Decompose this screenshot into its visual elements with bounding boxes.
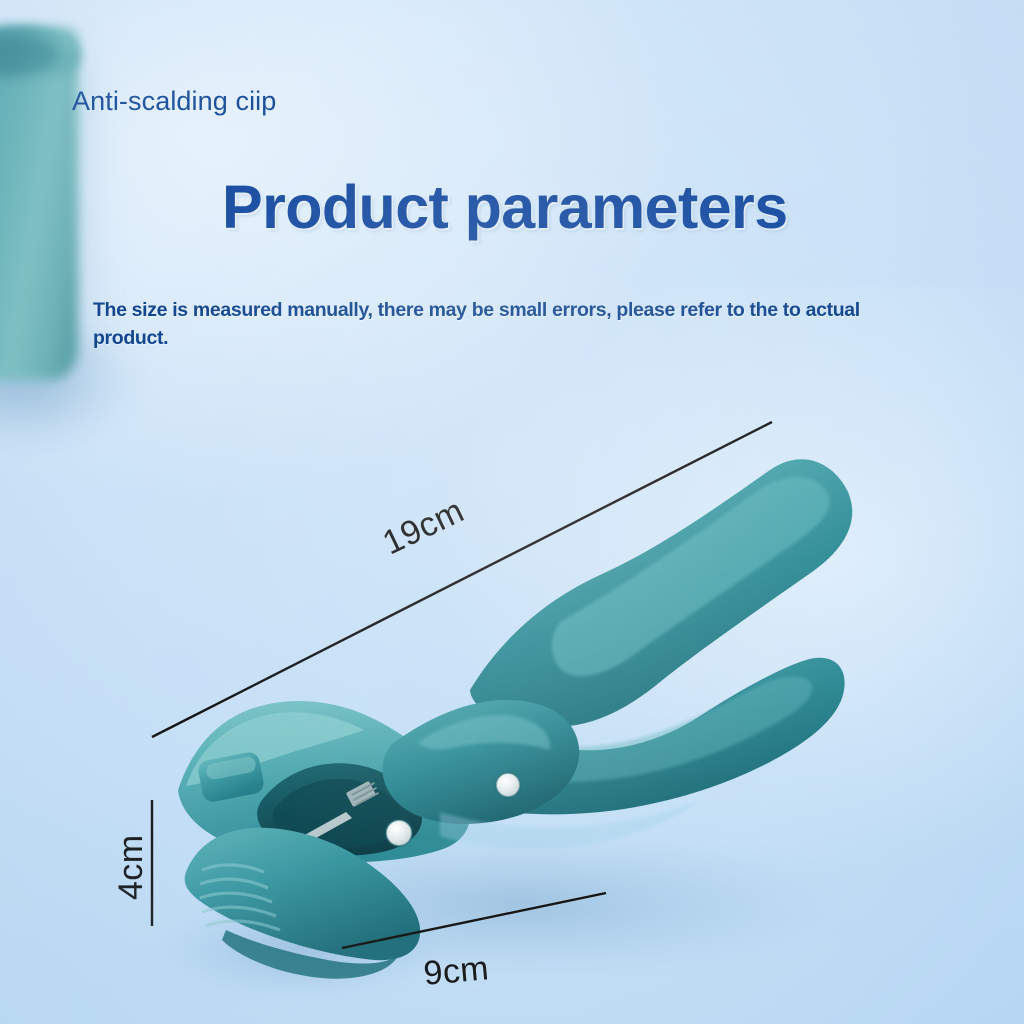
jaw-metal-pin	[292, 812, 352, 848]
rivet-rear-ring	[496, 773, 520, 797]
rivet-front-ring	[386, 820, 412, 846]
measure-label-9cm: 9cm	[422, 949, 491, 994]
upper-handle-highlight	[552, 477, 830, 676]
product-underglow	[440, 800, 700, 849]
thumb-button	[197, 750, 266, 803]
grip-ridges	[200, 865, 280, 930]
vignette-overlay	[0, 0, 1024, 1024]
thumb-button-highlight	[205, 755, 257, 780]
rivet-rear	[496, 773, 520, 797]
clip-center-highlight	[418, 715, 550, 750]
measure-line-9cm	[342, 893, 606, 948]
product-contact-shadow-front	[150, 898, 450, 1002]
product-image	[0, 0, 1024, 1024]
product-contact-shadow	[190, 827, 850, 983]
background-shadow-bottom	[82, 717, 963, 1024]
ridged-grip-pad	[185, 828, 421, 960]
grip-pad-lip	[222, 930, 400, 979]
clip-center-body	[382, 700, 579, 824]
jaw-pin-head	[289, 840, 299, 850]
gripping-jaw-head	[178, 701, 470, 862]
product-parameters-infographic: 19cm 4cm 9cm Anti-scalding ciip Product …	[0, 0, 1024, 1024]
page-title: Product parameters	[222, 172, 788, 242]
measure-line-19cm	[152, 422, 772, 737]
measurement-overlay	[0, 0, 1024, 1024]
background-highlight-right	[430, 287, 1024, 881]
jaw-cavity	[257, 763, 422, 855]
lower-handle-sheen	[461, 677, 812, 783]
upper-handle	[470, 459, 852, 726]
measure-label-19cm: 19cm	[377, 492, 470, 564]
disclaimer-text: The size is measured manually, there may…	[93, 297, 938, 352]
jaw-cavity-inner-shadow	[272, 779, 403, 847]
product-name-label: Anti-scalding ciip	[72, 86, 276, 117]
lower-handle	[420, 658, 844, 815]
jaw-top-bevel	[186, 712, 364, 786]
jaw-metal-plate	[346, 781, 379, 807]
rivet-front	[386, 820, 412, 846]
measure-label-4cm: 4cm	[112, 835, 151, 900]
